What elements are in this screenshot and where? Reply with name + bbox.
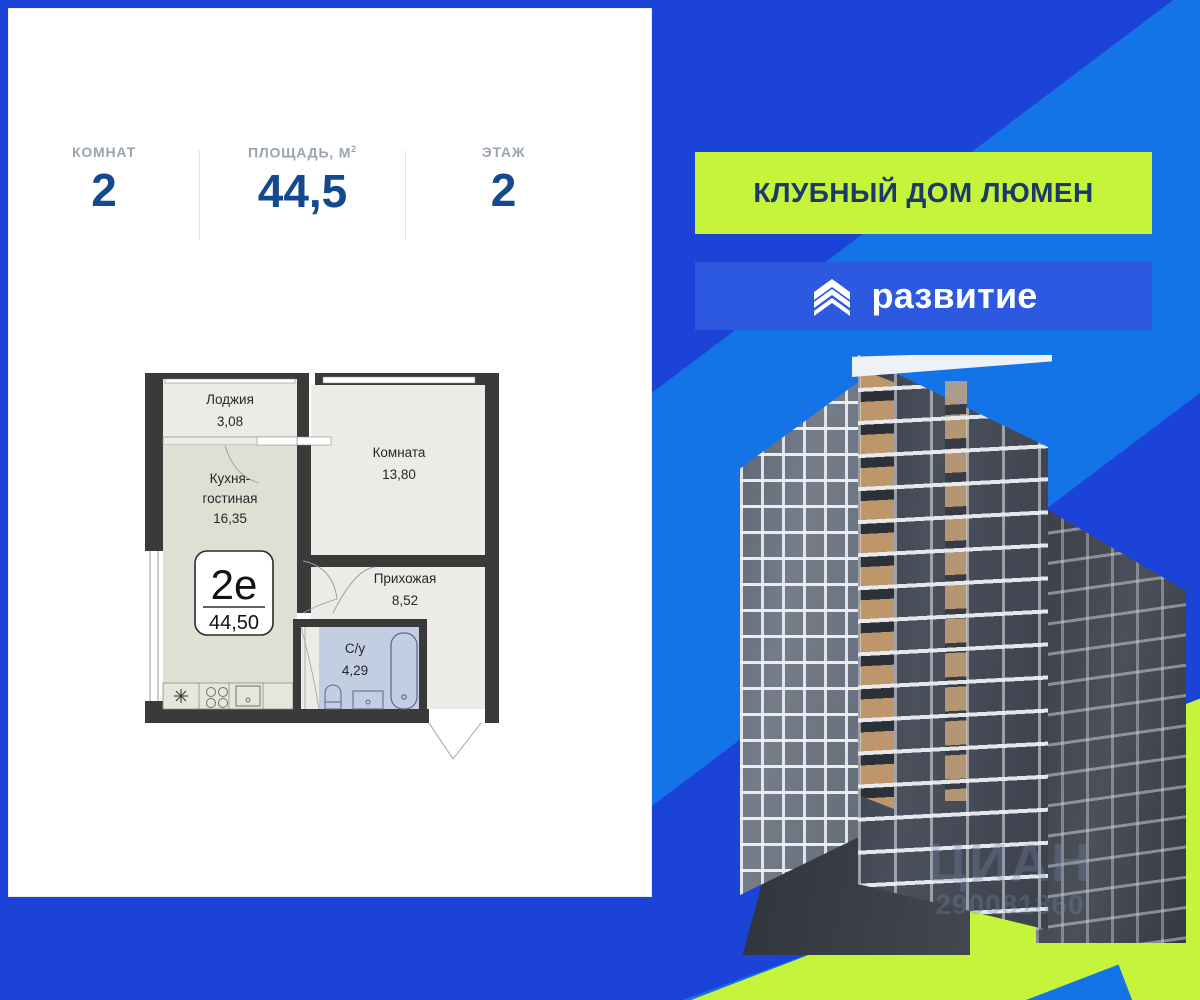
room-kitchen-name-2: гостиная [203, 491, 258, 506]
room-loggia: Лоджия 3,08 [163, 379, 297, 445]
building-render-photo [740, 355, 1200, 955]
floorplan-drawing: Лоджия 3,08 Кухня- гостиная 16,35 [137, 371, 527, 761]
listing-card-image: КЛУБНЫЙ ДОМ ЛЮМЕН развитие ЦИАН 29008186… [0, 0, 1200, 1000]
loggia-window-panel [257, 437, 297, 445]
room-komnata-name: Комната [373, 445, 426, 460]
stat-floor: ЭТАЖ 2 [406, 144, 601, 216]
stat-rooms-value: 2 [9, 166, 199, 216]
project-name-label: КЛУБНЫЙ ДОМ ЛЮМЕН [753, 177, 1093, 209]
building-right-windows [1036, 503, 1186, 943]
room-komnata-area: 13,80 [382, 467, 416, 482]
room-hallway-area: 8,52 [392, 593, 418, 608]
apartment-type-badge: 2е 44,50 [195, 551, 273, 635]
developer-name-label: развитие [872, 275, 1038, 317]
stat-area: ПЛОЩАДЬ, М2 44,5 [200, 144, 405, 216]
kitchen-fixtures [163, 683, 293, 709]
floorplan-card: КОМНАТ 2 ПЛОЩАДЬ, М2 44,5 ЭТАЖ 2 [8, 8, 652, 897]
apartment-stats: КОМНАТ 2 ПЛОЩАДЬ, М2 44,5 ЭТАЖ 2 [9, 144, 609, 240]
stat-rooms: КОМНАТ 2 [9, 144, 199, 216]
room-hallway-name: Прихожая [374, 571, 437, 586]
badge-type: 2е [211, 561, 258, 608]
room-loggia-area: 3,08 [217, 414, 243, 429]
building-left-windows [740, 375, 868, 895]
stat-rooms-label: КОМНАТ [9, 144, 199, 160]
stove-star-icon [174, 689, 188, 703]
chevron-stack-icon [810, 274, 854, 318]
floorplan-svg: Лоджия 3,08 Кухня- гостиная 16,35 [137, 371, 527, 761]
stat-area-label: ПЛОЩАДЬ, М2 [200, 144, 405, 161]
stat-floor-label: ЭТАЖ [406, 144, 601, 160]
building-center-windows [858, 355, 1048, 930]
stat-area-label-superscript: 2 [351, 144, 357, 154]
entry-door-gap [429, 709, 485, 723]
room-kitchen-name-1: Кухня- [210, 471, 251, 486]
stat-area-label-text: ПЛОЩАДЬ, М [248, 145, 351, 161]
project-name-banner: КЛУБНЫЙ ДОМ ЛЮМЕН [695, 152, 1152, 234]
loggia-door [297, 437, 331, 445]
room-bathroom-area: 4,29 [342, 663, 368, 678]
developer-banner: развитие [695, 262, 1152, 330]
badge-area: 44,50 [209, 612, 259, 634]
room-bathroom: С/у 4,29 [293, 619, 427, 709]
room-loggia-name: Лоджия [206, 392, 254, 407]
room-komnata: Комната 13,80 [311, 377, 485, 567]
window-left [145, 551, 163, 701]
stat-floor-value: 2 [406, 166, 601, 216]
door-entry [429, 723, 481, 759]
building-roof-crown [852, 355, 1052, 377]
room-bathroom-name-text: С/у [345, 641, 366, 656]
room-kitchen-area: 16,35 [213, 511, 247, 526]
stat-area-value: 44,5 [200, 167, 405, 217]
